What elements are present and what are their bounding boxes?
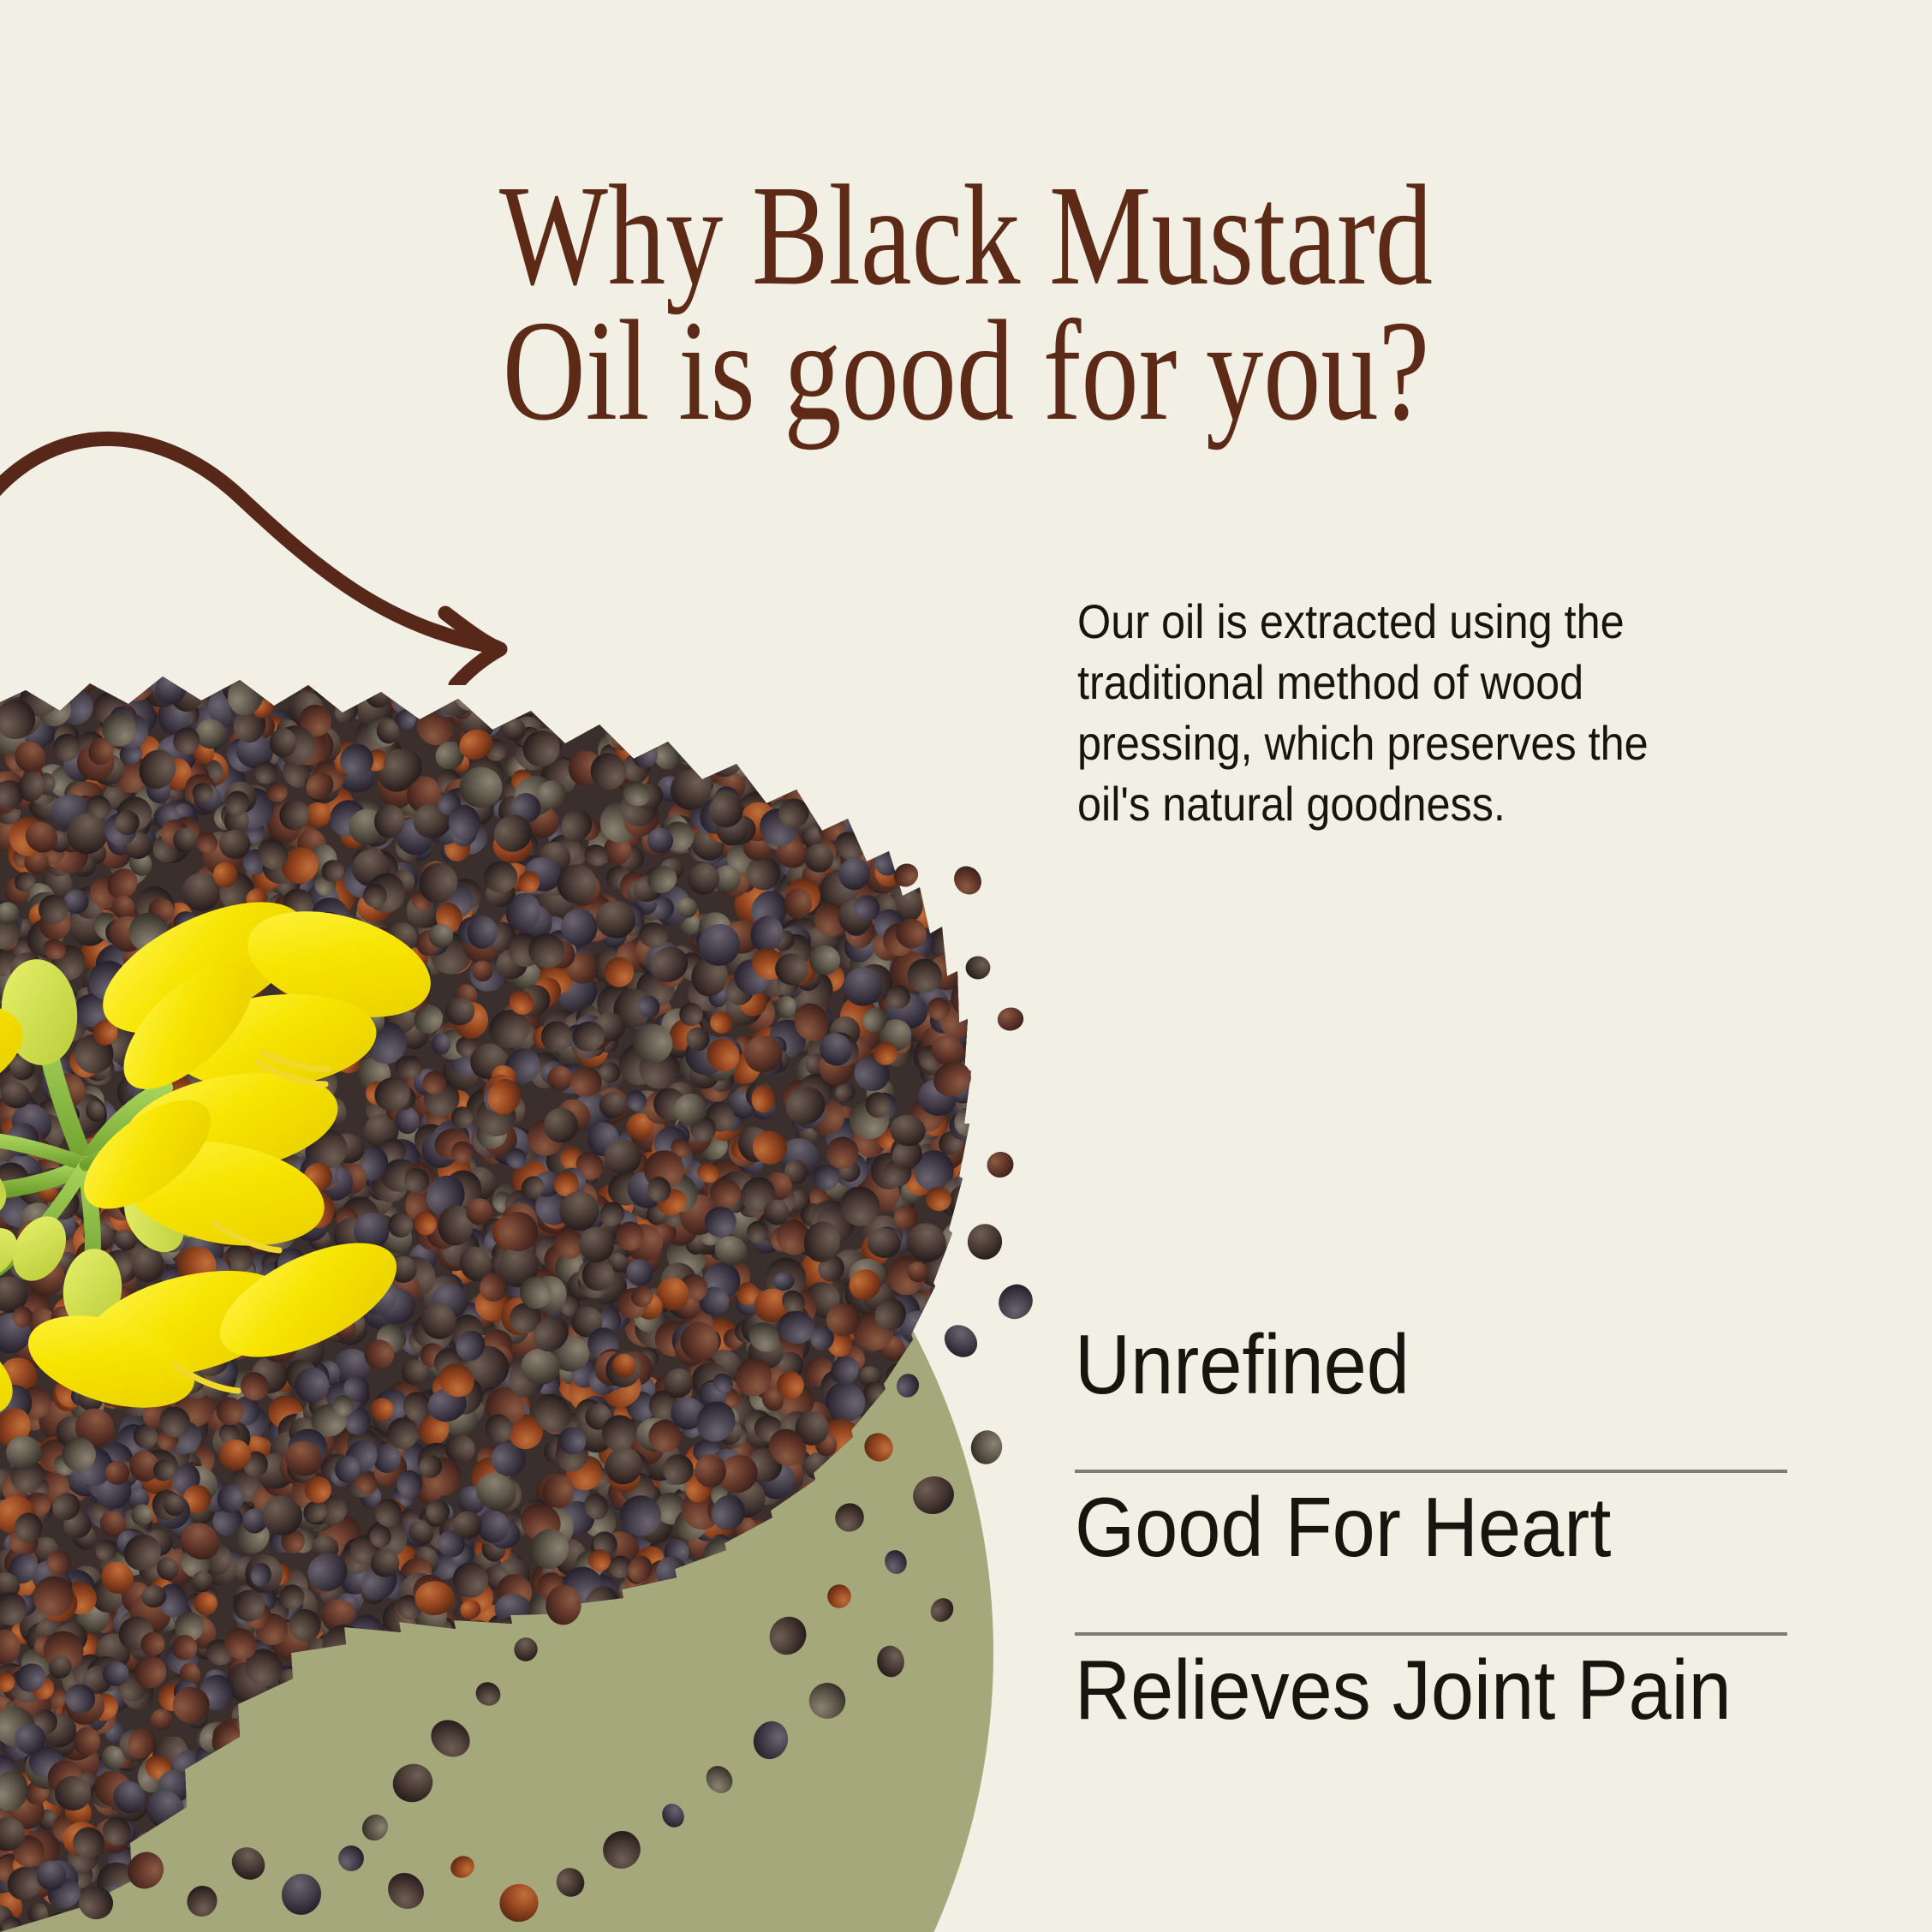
page-title: Why Black Mustard Oil is good for you? [0, 168, 1932, 438]
headline-line-1: Why Black Mustard [194, 168, 1739, 303]
benefit-label: Unrefined [1075, 1317, 1410, 1411]
benefit-label: Relieves Joint Pain [1075, 1643, 1732, 1737]
benefits-list: Unrefined Good For Heart Relieves Joint … [1075, 1310, 1794, 1798]
description-paragraph: Our oil is extracted using the tradition… [1077, 591, 1694, 834]
benefit-item-relieves-joint-pain: Relieves Joint Pain [1075, 1636, 1794, 1798]
poster-canvas: Why Black Mustard Oil is good for you? O… [0, 0, 1932, 1932]
benefit-item-good-for-heart: Good For Heart [1075, 1473, 1794, 1636]
benefit-item-unrefined: Unrefined [1075, 1310, 1794, 1473]
curved-arrow-icon [0, 402, 771, 685]
mustard-flower-photo [0, 796, 497, 1447]
benefit-label: Good For Heart [1075, 1480, 1611, 1574]
